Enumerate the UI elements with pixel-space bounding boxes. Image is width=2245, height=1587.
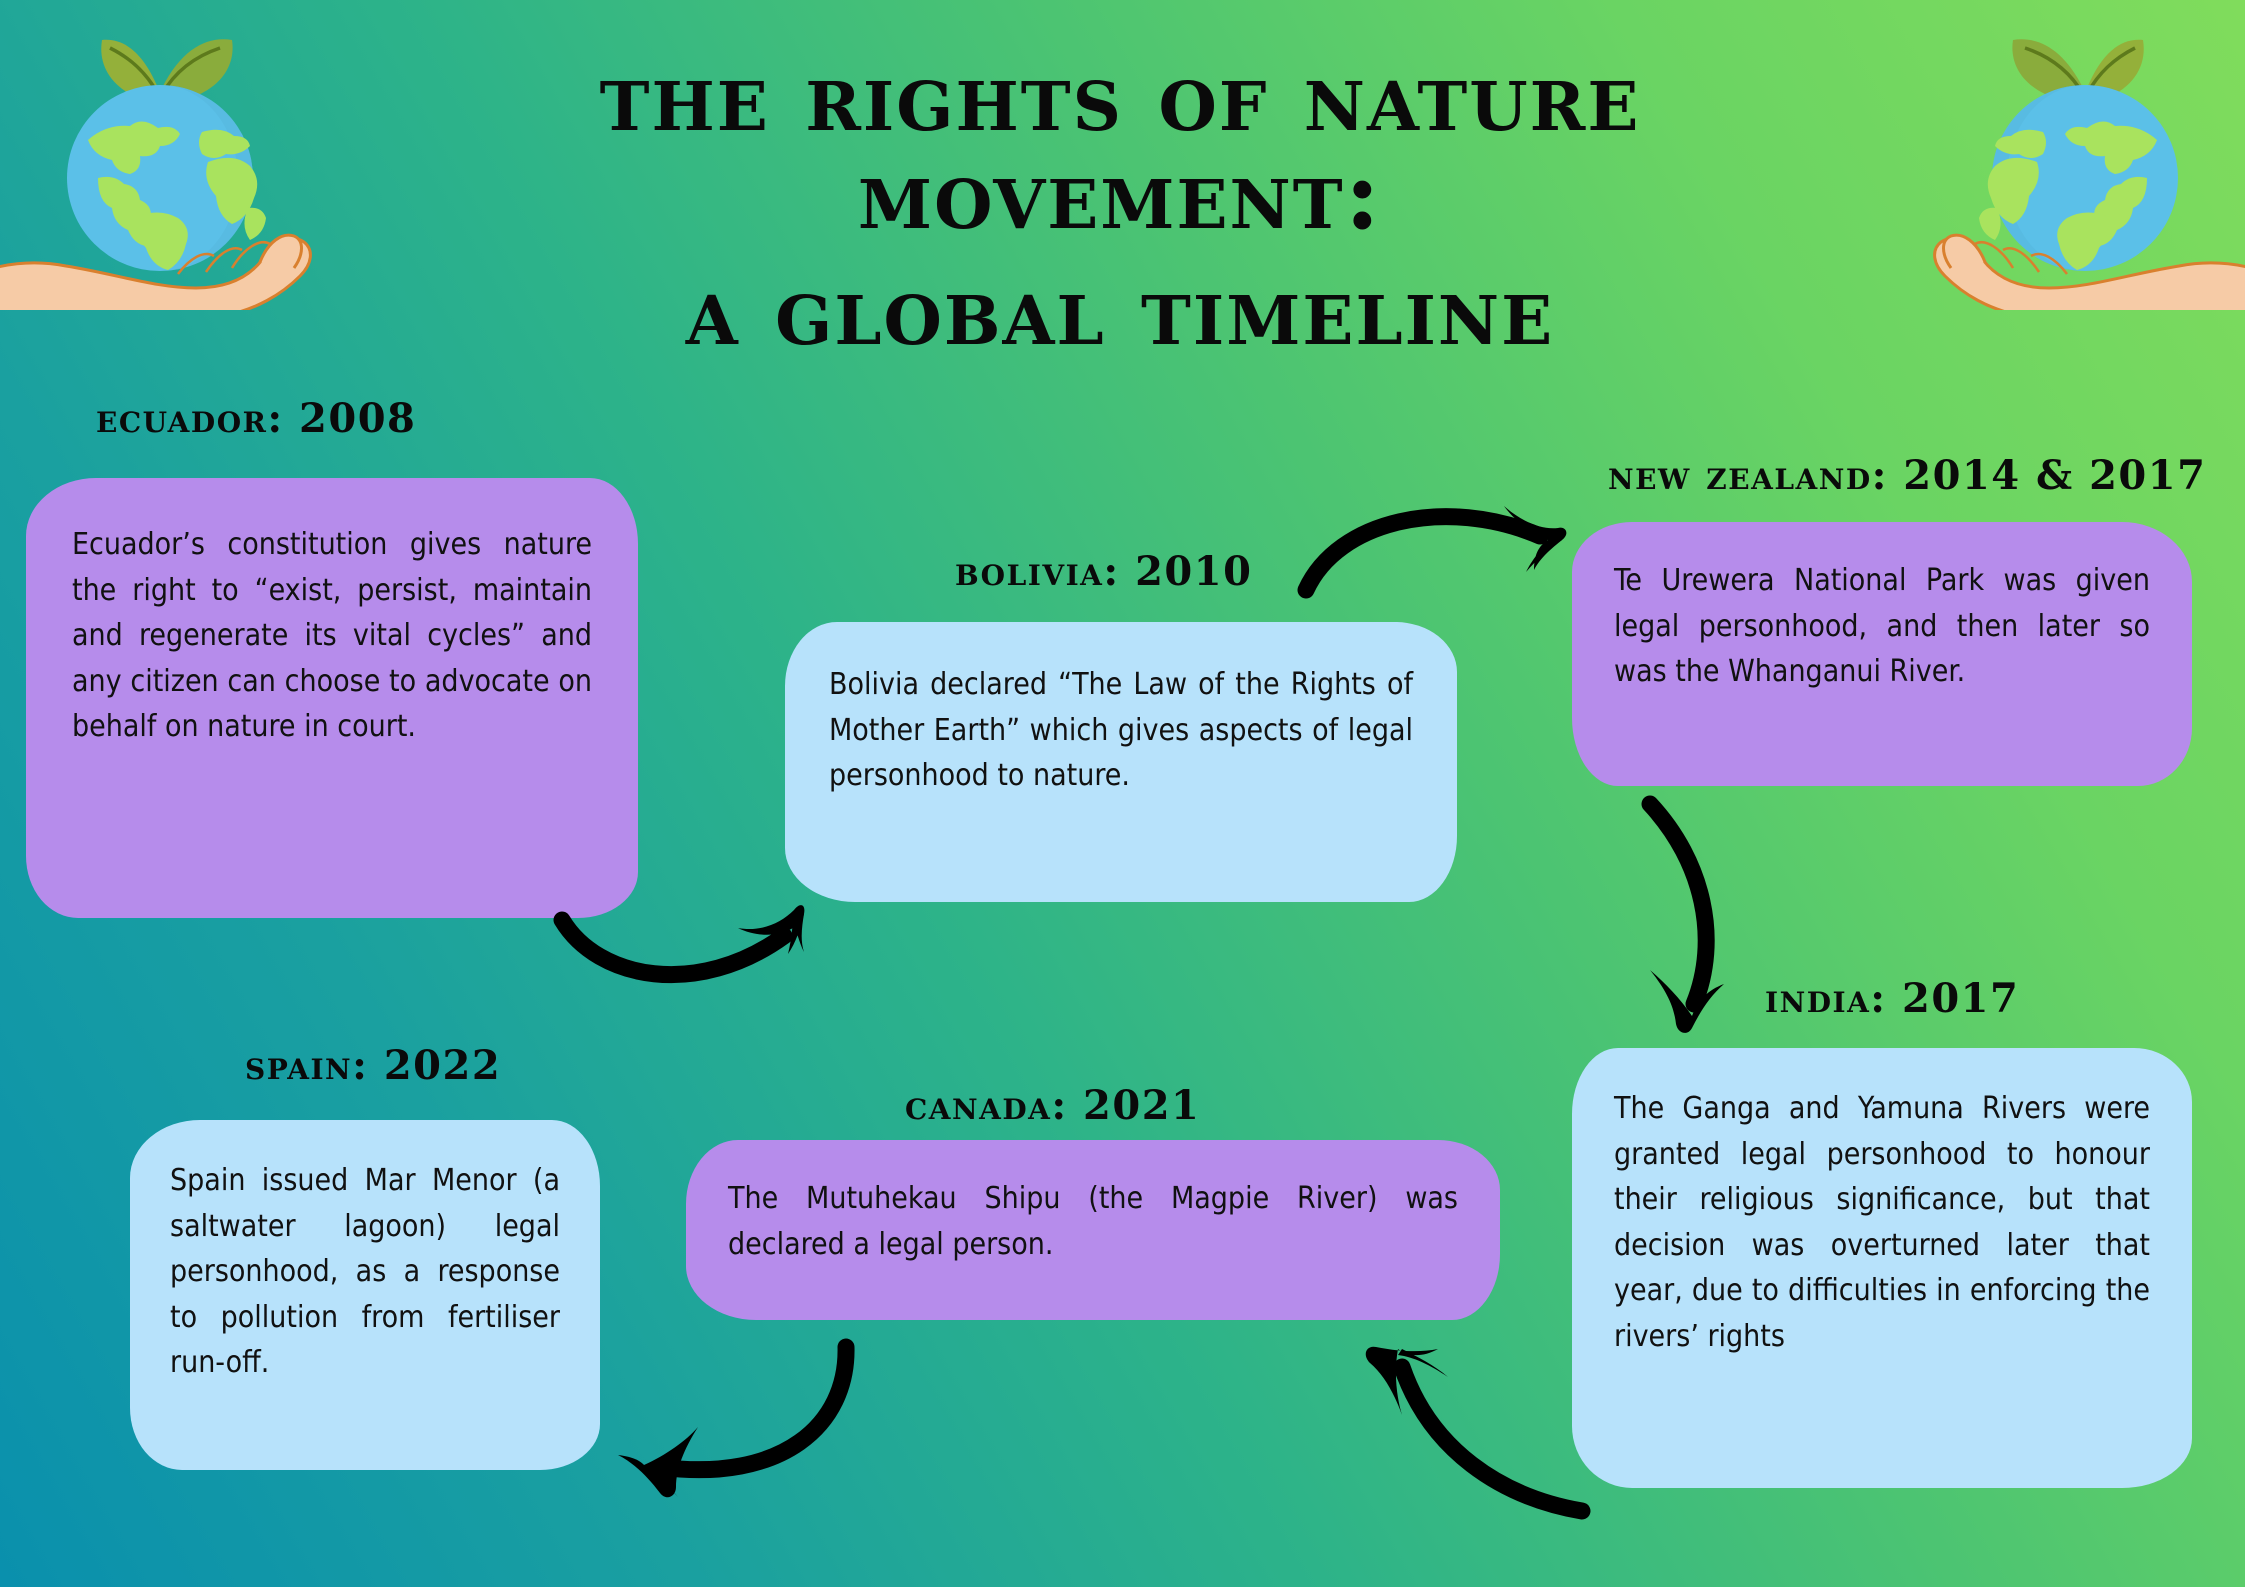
entry-body-spain: Spain issued Mar Menor (a saltwater lago… — [170, 1158, 560, 1386]
entry-body-ecuador: Ecuador’s constitution gives nature the … — [72, 522, 592, 750]
entry-box-new-zealand: Te Urewera National Park was given legal… — [1572, 522, 2192, 786]
entry-box-canada: The Mutuhekau Shipu (the Magpie River) w… — [686, 1140, 1500, 1320]
heading-new-zealand: New Zealand: 2014 & 2017 — [1608, 452, 2206, 499]
heading-ecuador: Ecuador: 2008 — [96, 395, 416, 442]
heading-canada: Canada: 2021 — [905, 1082, 1200, 1129]
page-title: The Rights of Nature Movement: A Global … — [360, 48, 1880, 360]
arrow-bolivia-to-new-zealand — [1290, 478, 1590, 628]
heading-spain: Spain: 2022 — [245, 1042, 501, 1089]
entry-box-ecuador: Ecuador’s constitution gives nature the … — [26, 478, 638, 918]
arrow-new-zealand-to-india — [1608, 790, 1788, 1040]
globe-in-hand-icon-left — [0, 10, 350, 310]
entry-body-bolivia: Bolivia declared “The Law of the Rights … — [829, 662, 1413, 799]
entry-box-india: The Ganga and Yamuna Rivers were granted… — [1572, 1048, 2192, 1488]
title-line-1: The Rights of Nature Movement: — [360, 48, 1880, 244]
entry-box-bolivia: Bolivia declared “The Law of the Rights … — [785, 622, 1457, 902]
entry-body-new-zealand: Te Urewera National Park was given legal… — [1614, 558, 2150, 695]
heading-bolivia: Bolivia: 2010 — [955, 548, 1252, 595]
arrow-canada-to-spain — [610, 1305, 890, 1525]
entry-body-canada: The Mutuhekau Shipu (the Magpie River) w… — [728, 1176, 1458, 1267]
heading-india: India: 2017 — [1765, 975, 2019, 1022]
infographic-poster: The Rights of Nature Movement: A Global … — [0, 0, 2245, 1587]
entry-body-india: The Ganga and Yamuna Rivers were granted… — [1614, 1086, 2150, 1360]
title-line-2: A Global Timeline — [360, 262, 1880, 360]
globe-in-hand-icon-right — [1895, 10, 2245, 310]
entry-box-spain: Spain issued Mar Menor (a saltwater lago… — [130, 1120, 600, 1470]
